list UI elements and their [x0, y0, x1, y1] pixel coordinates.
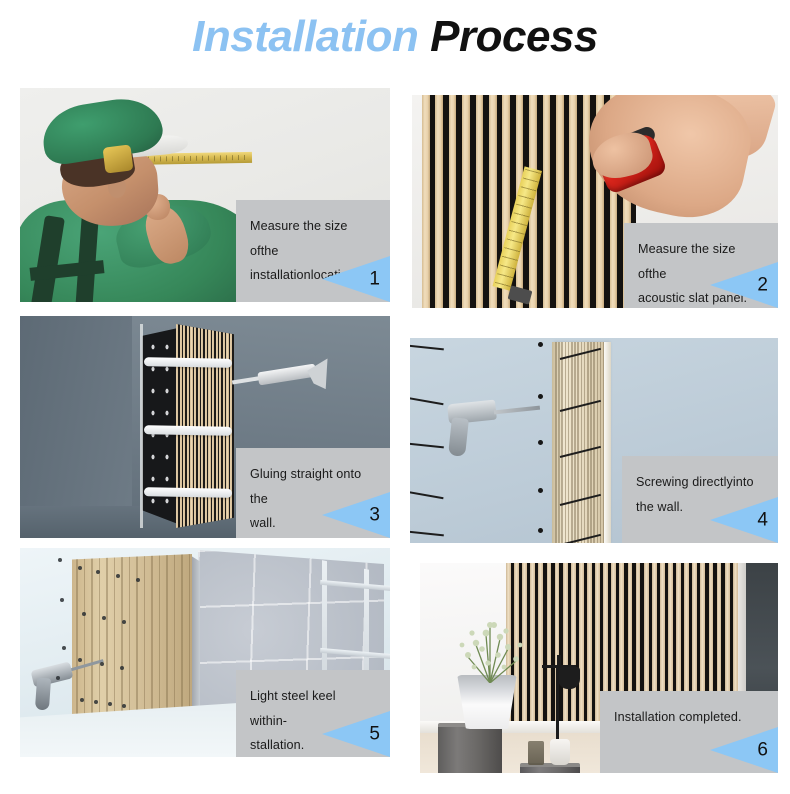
slat — [543, 95, 551, 308]
potted-plant — [442, 587, 538, 683]
slat — [422, 95, 430, 308]
step-caption-3: Gluing straight onto the wall. 3 — [236, 448, 390, 538]
screw-point — [122, 704, 126, 708]
screw-point — [62, 646, 66, 650]
panel-flute-line — [590, 342, 592, 543]
plant-pot — [456, 675, 518, 729]
screw-point — [80, 698, 84, 702]
panel-side-edge — [604, 342, 611, 543]
panel-flute-line — [584, 342, 586, 543]
panel-flute-line — [587, 342, 589, 543]
step-image-4: Screwing directlyinto the wall. 4 — [410, 338, 778, 543]
screw-point — [136, 578, 140, 582]
panel-flute-line — [593, 342, 595, 543]
step-caption-2: Measure the size ofthe acoustic slat pan… — [624, 223, 778, 308]
step-number-6: 6 — [757, 741, 768, 760]
panel-flute-line — [129, 554, 131, 736]
step-number-2: 2 — [757, 276, 768, 295]
tape-measure-housing — [103, 144, 134, 173]
white-candle-holder — [550, 739, 570, 765]
step-number-badge-1: 1 — [322, 256, 390, 302]
screw-point — [60, 598, 64, 602]
slat — [563, 563, 568, 747]
slat — [583, 95, 591, 308]
screw-head — [538, 488, 543, 493]
lamp-shade — [558, 667, 580, 689]
panel-flute-line — [558, 342, 560, 543]
page-title: Installation Process — [0, 12, 790, 62]
panel-flute-line — [574, 342, 576, 543]
panel-flute-line — [91, 554, 93, 736]
step-image-6: Installation completed. 6 — [420, 563, 778, 773]
step-number-badge-3: 3 — [322, 492, 390, 538]
panel-flute-line — [99, 554, 101, 736]
screw-point — [116, 574, 120, 578]
keel-bar-h1 — [320, 580, 390, 593]
slat — [571, 563, 576, 747]
slat — [230, 324, 232, 528]
slat — [476, 95, 484, 308]
step-caption-4: Screwing directlyinto the wall. 4 — [622, 456, 778, 543]
slat — [556, 95, 564, 308]
page-title-part-blue: Installation — [192, 12, 418, 61]
drill-grip — [35, 678, 51, 711]
slat — [579, 563, 584, 747]
concrete-pedestal — [438, 727, 502, 773]
panel-flute-line — [600, 342, 602, 543]
panel-flute-line — [597, 342, 599, 543]
screw-point — [58, 558, 62, 562]
step-image-5: Light steel keel within- stallation. 5 — [20, 548, 390, 757]
screw-point — [120, 666, 124, 670]
small-glass-vase — [528, 741, 544, 765]
slat — [435, 95, 443, 308]
acoustic-slat-panel — [552, 342, 608, 543]
step-caption-4-line1: Screwing directlyinto — [636, 470, 764, 495]
step-number-badge-6: 6 — [710, 727, 778, 773]
screw-point — [56, 676, 60, 680]
slat — [462, 95, 470, 308]
screw-point — [100, 662, 104, 666]
step-image-2: Measure the size ofthe acoustic slat pan… — [412, 95, 778, 308]
step-number-badge-4: 4 — [710, 497, 778, 543]
step-number-badge-2: 2 — [710, 262, 778, 308]
screw-point — [96, 570, 100, 574]
panel-flute-line — [114, 554, 116, 736]
panel-flute-line — [555, 342, 557, 543]
glue-bead-top — [144, 357, 232, 368]
slat — [587, 563, 592, 747]
panel-flute-line — [571, 342, 573, 543]
screw-point — [122, 620, 126, 624]
panel-flute-line — [84, 554, 86, 736]
screw-point — [108, 702, 112, 706]
side-wall — [20, 316, 132, 538]
panel-flute-line — [581, 342, 583, 543]
slat — [538, 563, 543, 747]
panel-flute-line — [121, 554, 123, 736]
step-caption-1: Measure the size ofthe installationlocat… — [236, 200, 390, 302]
step-caption-6: Installation completed. 6 — [600, 691, 778, 773]
glue-bead-middle — [144, 425, 232, 436]
step-image-3: Gluing straight onto the wall. 3 — [20, 316, 390, 538]
screw-point — [94, 700, 98, 704]
glue-bead-bottom — [144, 487, 232, 498]
screw-point — [102, 616, 106, 620]
screw-head — [538, 342, 543, 347]
step-caption-6-line1: Installation completed. — [614, 705, 764, 730]
screw-head — [538, 440, 543, 445]
concrete-side-table — [520, 767, 580, 773]
screw-head — [538, 394, 543, 399]
screw-point — [78, 566, 82, 570]
slat — [449, 95, 457, 308]
panel-edge-highlight — [140, 324, 143, 528]
screw-point — [82, 612, 86, 616]
step-number-1: 1 — [369, 270, 380, 289]
panel-flute-line — [144, 554, 146, 736]
panel-flute-line — [561, 342, 563, 543]
panel-flute-line — [565, 342, 567, 543]
screw-head — [538, 528, 543, 533]
step-image-1: Measure the size ofthe installationlocat… — [20, 88, 390, 302]
slat — [547, 563, 552, 747]
step-number-badge-5: 5 — [322, 711, 390, 757]
step-number-3: 3 — [369, 506, 380, 525]
screw-point — [78, 658, 82, 662]
panel-flute-line — [577, 342, 579, 543]
panel-flute-line — [76, 554, 78, 736]
panel-flute-line — [106, 554, 108, 736]
step-number-5: 5 — [369, 725, 380, 744]
step-caption-5: Light steel keel within- stallation. 5 — [236, 670, 390, 757]
keel-bar-h2 — [320, 648, 390, 661]
panel-flute-line — [568, 342, 570, 543]
slat — [569, 95, 577, 308]
page-title-part-dark: Process — [430, 12, 598, 61]
step-number-4: 4 — [757, 511, 768, 530]
